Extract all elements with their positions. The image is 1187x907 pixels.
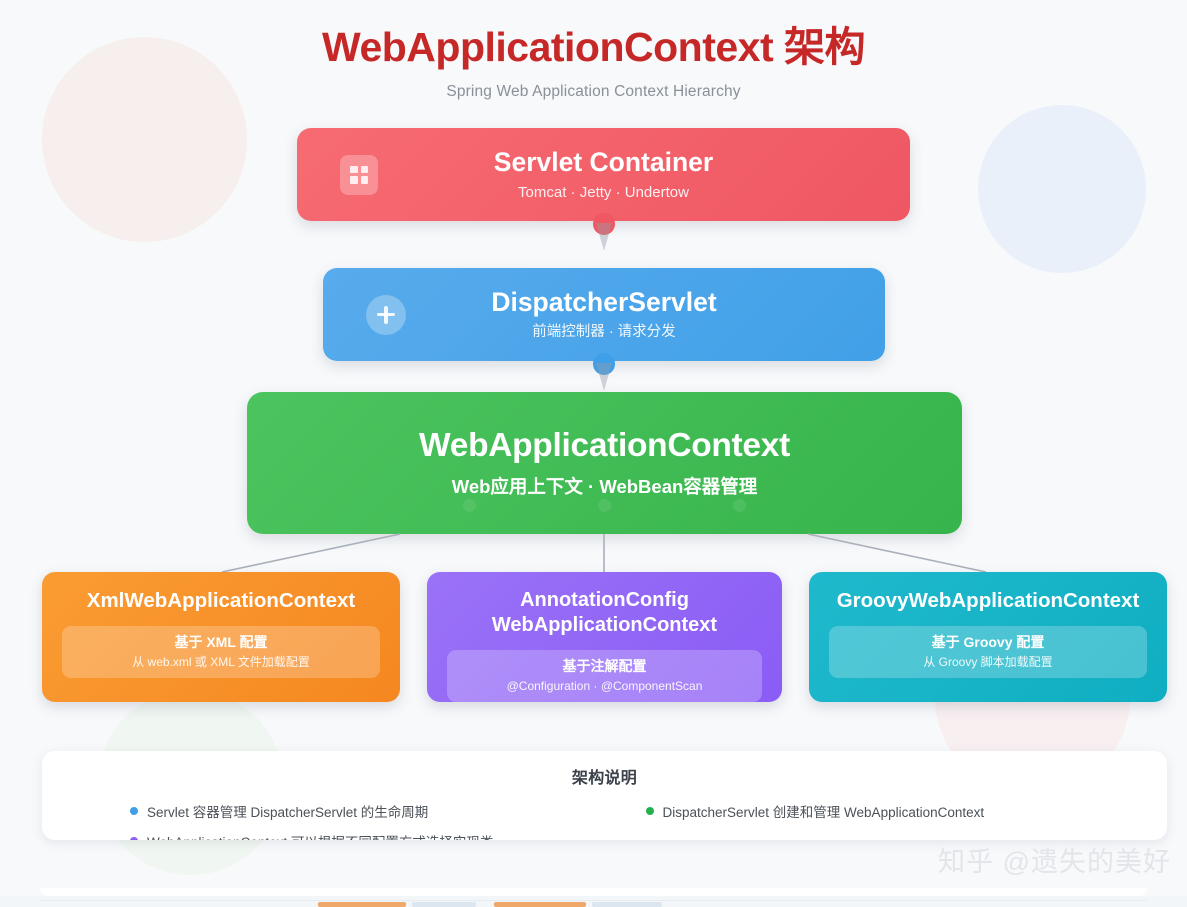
legend-card: 架构说明 Servlet 容器管理 DispatcherServlet 的生命周…	[42, 751, 1167, 840]
node-annotation-config-web-application-context[interactable]: AnnotationConfig WebApplicationContext 基…	[427, 572, 782, 702]
card-bottom-edge	[40, 888, 1147, 896]
node-annotation-config-title-line1: AnnotationConfig	[447, 588, 762, 613]
legend-item-label: WebApplicationContext 可以根据不同配置方式选择实现类	[147, 831, 493, 840]
node-groovy-web-application-context[interactable]: GroovyWebApplicationContext 基于 Groovy 配置…	[809, 572, 1167, 702]
node-xml-detail-sub: 从 web.xml 或 XML 文件加载配置	[72, 655, 370, 669]
legend-item: WebApplicationContext 可以根据不同配置方式选择实现类	[130, 831, 626, 840]
node-groovy-detail-main: 基于 Groovy 配置	[839, 634, 1137, 651]
node-xml-web-application-context[interactable]: XmlWebApplicationContext 基于 XML 配置 从 web…	[42, 572, 400, 702]
fold-strip	[318, 902, 406, 907]
node-annotation-detail-panel: 基于注解配置 @Configuration · @ComponentScan	[447, 650, 762, 702]
fold-strip	[592, 902, 662, 907]
page-title: WebApplicationContext 架构	[0, 24, 1187, 71]
node-groovy-web-application-context-title: GroovyWebApplicationContext	[829, 588, 1147, 614]
node-annotation-detail-main: 基于注解配置	[457, 658, 752, 675]
legend-bullet-icon	[646, 807, 654, 815]
node-groovy-detail-panel: 基于 Groovy 配置 从 Groovy 脚本加载配置	[829, 626, 1147, 678]
page-header: WebApplicationContext 架构 Spring Web Appl…	[0, 0, 1187, 101]
fold-strip	[494, 902, 586, 907]
page-subtitle: Spring Web Application Context Hierarchy	[0, 83, 1187, 101]
legend-item-label: DispatcherServlet 创建和管理 WebApplicationCo…	[663, 801, 985, 821]
connector-servlet-to-dispatcher	[593, 213, 615, 235]
decorative-dots	[247, 499, 962, 512]
node-xml-detail-panel: 基于 XML 配置 从 web.xml 或 XML 文件加载配置	[62, 626, 380, 678]
legend-item-label: Servlet 容器管理 DispatcherServlet 的生命周期	[147, 801, 428, 821]
diagram-page: WebApplicationContext 架构 Spring Web Appl…	[0, 0, 1187, 907]
node-servlet-container-title: Servlet Container	[297, 148, 910, 177]
legend-item: DispatcherServlet 创建和管理 WebApplicationCo…	[646, 801, 1142, 821]
node-dispatcher-servlet-title: DispatcherServlet	[323, 288, 885, 317]
watermark: 知乎 @遗失的美好	[938, 840, 1171, 879]
node-dispatcher-servlet-subtitle: 前端控制器 · 请求分发	[323, 324, 885, 341]
node-groovy-detail-sub: 从 Groovy 脚本加载配置	[839, 655, 1137, 669]
node-web-application-context-subtitle: Web应用上下文 · WebBean容器管理	[247, 476, 962, 498]
node-web-application-context-title: WebApplicationContext	[247, 428, 962, 465]
node-xml-web-application-context-title: XmlWebApplicationContext	[62, 588, 380, 614]
legend-items: Servlet 容器管理 DispatcherServlet 的生命周期 Dis…	[68, 801, 1141, 840]
connector-dispatcher-to-wac	[593, 353, 615, 375]
legend-bullet-icon	[130, 807, 138, 815]
node-servlet-container-subtitle: Tomcat · Jetty · Undertow	[297, 184, 910, 202]
fold-strip	[412, 902, 476, 907]
legend-item: Servlet 容器管理 DispatcherServlet 的生命周期	[130, 801, 626, 821]
fold-divider	[40, 900, 1147, 901]
node-annotation-detail-sub: @Configuration · @ComponentScan	[457, 679, 752, 693]
legend-bullet-icon	[130, 837, 138, 840]
node-annotation-config-title: AnnotationConfig WebApplicationContext	[447, 588, 762, 638]
connector-arrowhead-down	[596, 223, 612, 251]
connector-arrowhead-down	[596, 363, 612, 391]
node-xml-detail-main: 基于 XML 配置	[72, 634, 370, 651]
node-annotation-config-title-line2: WebApplicationContext	[447, 613, 762, 638]
legend-title: 架构说明	[68, 764, 1141, 788]
below-fold-content-sliver	[0, 896, 1187, 907]
